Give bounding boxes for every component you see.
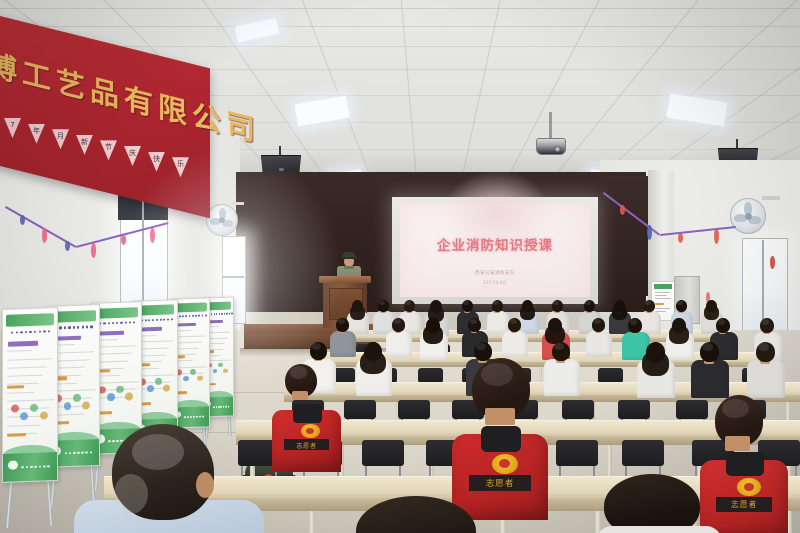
window-frame-small	[222, 276, 244, 278]
meeting-room-photo: 博工艺品有限公司 7年月新节庆快乐 企业消防知识授课 西安公安消防支队 2017…	[0, 0, 800, 533]
poster-board-seal	[8, 460, 17, 469]
poster-title-tick	[145, 319, 147, 321]
poster-title-tick	[29, 330, 31, 333]
projector-lens	[554, 146, 561, 152]
poster-illustration	[40, 412, 48, 420]
poster-title-tick	[108, 322, 110, 324]
projector-icon	[536, 138, 566, 155]
person-torso	[502, 331, 528, 358]
poster-footer-tick	[47, 466, 50, 468]
poster-illustration	[147, 385, 154, 392]
poster-illustration	[197, 375, 203, 381]
person-torso	[691, 360, 729, 398]
poster-text-line	[7, 391, 34, 393]
volunteer-vest-logo-center	[306, 428, 314, 434]
volunteer-neck	[292, 391, 308, 401]
poster-title-tick	[202, 315, 204, 317]
podium-top	[319, 276, 371, 283]
notice-board-header	[654, 284, 672, 289]
poster-illustration	[73, 394, 81, 402]
banner-flag-char: 月	[55, 132, 66, 141]
person-hair-highlight	[594, 319, 601, 324]
bunting-right-drop	[620, 205, 625, 215]
poster-title-tick	[163, 318, 165, 320]
poster-illustration	[82, 401, 90, 409]
poster-title-tick	[77, 326, 79, 329]
person-hair-highlight	[702, 343, 712, 351]
chair	[676, 400, 708, 419]
person-torso	[487, 311, 509, 334]
poster-text-line	[7, 366, 47, 368]
poster-footer-tick	[193, 416, 195, 418]
volunteer-inner-shirt	[481, 426, 521, 452]
poster-footer-tick	[21, 467, 24, 469]
poster-illustration	[218, 363, 223, 368]
poster-subheading	[96, 330, 124, 335]
banner-flag-char: 7	[7, 121, 18, 130]
poster-text-line	[7, 375, 43, 377]
volunteer-vest-logo-center	[499, 459, 510, 468]
poster-footer-tick	[30, 466, 33, 468]
poster-illustration	[125, 392, 133, 400]
volunteer-vest-strip-text: 志愿者	[716, 499, 773, 510]
poster-text-line	[95, 353, 132, 355]
person-torso	[386, 331, 412, 358]
poster-footer-tick	[202, 416, 204, 418]
foreground-man-ear	[196, 472, 214, 498]
fan-bracket-left	[232, 202, 244, 205]
poster-footer-tick	[187, 416, 189, 418]
poster-footer-tick	[216, 406, 218, 408]
notice-text-line	[655, 295, 667, 296]
poster-illustration	[64, 402, 72, 410]
poster-illustration	[11, 404, 19, 412]
speaker-mount	[279, 146, 281, 156]
poster-illustration	[183, 376, 189, 382]
notice-text-line	[655, 292, 670, 293]
poster-title-tick	[198, 315, 200, 317]
poster-title-tick	[229, 312, 230, 314]
poster-board-header	[173, 302, 206, 312]
bunting-left-drop	[121, 235, 126, 245]
person-torso	[586, 331, 612, 358]
poster-illustration	[116, 385, 124, 393]
poster-text-line	[174, 342, 202, 344]
ceiling-grid-line	[0, 8, 800, 9]
table-leg	[607, 445, 612, 477]
notice-text-line	[655, 308, 670, 309]
poster-illustration	[30, 403, 38, 411]
poster-title-tick	[20, 331, 22, 334]
person-head-front	[523, 300, 532, 310]
fan-hub-right	[745, 213, 752, 220]
fan-hub-left	[219, 217, 225, 223]
person-hair-highlight	[762, 319, 770, 325]
poster-illustration	[190, 369, 196, 375]
chair	[598, 368, 623, 383]
poster-footer-tick	[225, 406, 227, 408]
poster-title-tick	[226, 312, 227, 314]
speaker-mount	[736, 139, 738, 149]
poster-title-tick	[214, 313, 215, 315]
banner-flag-char: 新	[79, 138, 90, 147]
bunting-left-drop	[42, 228, 47, 243]
poster-title-tick	[34, 330, 36, 333]
poster-illustration	[163, 384, 170, 391]
poster-footer-tick	[223, 406, 225, 408]
volunteer-neck	[725, 436, 750, 450]
poster-illustration	[20, 412, 28, 420]
bunting-left-drop	[65, 241, 70, 251]
poster-title-tick	[86, 325, 88, 328]
person-head-front	[673, 318, 684, 330]
poster-title-tick	[160, 318, 162, 320]
poster-text-line	[95, 381, 139, 384]
poster-footer-tick	[116, 440, 119, 442]
person-hair-highlight	[630, 319, 638, 325]
poster-text-line	[95, 345, 136, 347]
banner-flag-char: 年	[31, 127, 42, 136]
table-leg	[309, 511, 315, 533]
poster-footer-tick	[108, 440, 111, 442]
poster-title-tick	[48, 330, 50, 333]
poster-footer-tick	[90, 452, 93, 454]
volunteer-vest-logo-center	[744, 483, 754, 491]
foreground-man-grey-hair	[114, 474, 148, 514]
poster-footer-tick	[213, 406, 215, 408]
person-head-front	[353, 300, 362, 310]
poster-board-footer	[3, 453, 57, 482]
poster-footer-tick	[220, 406, 222, 408]
presenter-cap-brim	[341, 257, 357, 259]
window-mullion-right	[762, 240, 764, 330]
poster-title-tick	[216, 313, 217, 315]
poster-title-tick	[205, 314, 207, 316]
person-torso	[639, 311, 661, 334]
poster-footer-tick	[39, 466, 42, 468]
poster-illustration	[213, 369, 218, 374]
poster-footer-tick	[43, 466, 46, 468]
person-hair-highlight	[510, 319, 517, 324]
bunting-right-drop	[770, 256, 775, 269]
volunteer-vest-strip: 志愿者	[469, 475, 530, 491]
poster-footer-tick	[199, 416, 201, 418]
chair	[362, 440, 404, 466]
bunting-left-drop	[91, 243, 96, 258]
poster-title-tick	[211, 313, 212, 315]
poster-board-header	[6, 313, 54, 327]
poster-title-tick	[221, 313, 222, 315]
presenter-collar	[344, 266, 354, 269]
volunteer-vest-logo-icon	[301, 424, 320, 438]
poster-subheading-3	[7, 433, 25, 437]
foreground-head-right-shirt	[596, 526, 722, 533]
banner-flag-char: 节	[103, 143, 114, 152]
volunteer-inner-shirt	[726, 452, 763, 476]
chair	[618, 400, 650, 419]
poster-title-tick	[231, 312, 232, 314]
poster-footer-tick	[81, 452, 84, 454]
ceiling-grid-line	[0, 26, 800, 27]
poster-footer-tick	[190, 416, 192, 418]
projection-screen: 企业消防知识授课 西安公安消防支队 2017年4月	[392, 197, 598, 304]
poster-text-line	[7, 350, 31, 352]
poster-title-tick	[129, 321, 131, 323]
person-torso	[544, 359, 580, 395]
poster-board-header	[94, 307, 138, 319]
poster-board	[2, 307, 58, 483]
volunteer-inner-shirt	[293, 404, 322, 423]
banner-flag-char: 快	[151, 155, 162, 164]
slide-subtitle-org: 西安公安消防支队	[400, 270, 590, 276]
person-torso	[330, 331, 356, 358]
poster-title-tick	[68, 326, 70, 329]
poster-text-line	[7, 358, 51, 361]
person-head-front	[427, 318, 438, 330]
poster-text-line	[7, 399, 54, 402]
poster-title-tick	[133, 321, 135, 323]
poster-title-tick	[25, 331, 27, 334]
speaker-badge	[279, 168, 284, 171]
poster-subheading-2	[7, 385, 23, 389]
projection-screen-surface: 企业消防知识授课 西安公安消防支队 2017年4月	[400, 204, 590, 297]
fan-cage-right	[730, 198, 766, 234]
poster-title-tick	[90, 325, 92, 328]
person-hair-highlight	[338, 319, 345, 324]
poster-footer-tick	[73, 452, 76, 454]
projector-mount	[549, 112, 552, 140]
poster-subheading	[8, 341, 38, 347]
poster-title-tick	[125, 321, 127, 323]
poster-title-tick	[152, 319, 154, 321]
chair	[556, 440, 598, 466]
bunting-right-drop	[647, 225, 652, 240]
poster-title-tick	[185, 315, 187, 317]
poster-illustration	[155, 378, 162, 385]
poster-title-tick	[59, 326, 61, 329]
chair	[398, 400, 430, 419]
chair	[622, 440, 664, 466]
foreground-man-hair-highlight	[132, 434, 184, 470]
person-head-front	[366, 342, 381, 358]
poster-title-tick	[171, 318, 173, 320]
person-torso	[747, 360, 785, 398]
poster-title-tick	[43, 330, 45, 333]
volunteer-vest-strip: 志愿者	[284, 439, 328, 451]
bunting-left-drop	[20, 215, 25, 225]
person-hair-highlight	[718, 319, 726, 325]
poster-title-tick	[116, 322, 118, 324]
banner-flag-char: 乐	[175, 160, 186, 169]
person-hair-highlight	[758, 343, 768, 351]
volunteer-vest-strip-text: 志愿者	[469, 477, 530, 489]
volunteer-vest-strip: 志愿者	[716, 497, 773, 512]
volunteer-hair-highlight	[481, 363, 513, 386]
poster-title-tick	[192, 315, 194, 317]
poster-title-tick	[224, 313, 225, 315]
person-hair-highlight	[394, 319, 401, 324]
poster-text-line	[7, 424, 41, 426]
poster-footer-tick	[34, 466, 37, 468]
poster-footer-tick	[77, 452, 80, 454]
person-head-front	[648, 342, 664, 358]
slide-title: 企业消防知识授课	[400, 234, 590, 254]
poster-title-tick	[189, 315, 191, 317]
poster-title-tick	[112, 322, 114, 324]
slide-subtitle-date: 2017年4月	[400, 280, 590, 286]
notice-text-line	[655, 298, 671, 299]
banner-flag-char: 庆	[127, 149, 138, 158]
poster-footer-tick	[69, 452, 72, 454]
poster-title-tick	[219, 313, 220, 315]
poster-text-line	[174, 335, 205, 337]
volunteer-vest-logo-icon	[492, 454, 518, 474]
person-head-front	[549, 318, 560, 330]
poster-title-tick	[64, 326, 66, 329]
chair	[418, 368, 443, 383]
poster-title-tick	[120, 322, 122, 324]
poster-title-tick	[82, 326, 84, 329]
poster-title-tick	[156, 318, 158, 320]
person-head-front	[431, 300, 441, 311]
poster-title-tick	[39, 330, 41, 333]
poster-footer-tick	[26, 466, 29, 468]
poster-title-tick	[182, 315, 184, 317]
poster-illustration	[107, 393, 115, 401]
volunteer-vest-strip-text: 志愿者	[284, 441, 328, 450]
poster-footer-tick	[85, 452, 88, 454]
volunteer-hair-highlight	[722, 399, 748, 418]
notice-text-line	[655, 303, 664, 305]
poster-footer-tick	[65, 453, 68, 455]
poster-footer-tick	[218, 406, 220, 408]
poster-title-tick	[195, 315, 197, 317]
poster-title-tick	[148, 319, 150, 321]
poster-footer-tick	[228, 406, 230, 408]
person-head-front	[707, 300, 716, 310]
poster-text-line	[137, 374, 175, 376]
fan-bracket-right	[762, 196, 780, 200]
poster-text-line	[174, 366, 207, 368]
volunteer-neck	[485, 408, 515, 425]
poster-title-tick	[16, 331, 18, 334]
person-head-front	[615, 300, 624, 310]
poster-title-tick	[103, 322, 105, 324]
poster-footer-tick	[112, 440, 115, 442]
volunteer-hair-highlight	[290, 366, 307, 379]
poster-title-tick	[73, 326, 75, 329]
poster-illustration	[223, 368, 228, 373]
chair	[562, 400, 594, 419]
poster-footer-tick	[196, 416, 198, 418]
poster-title-tick	[167, 318, 169, 320]
person-hair-highlight	[470, 319, 477, 324]
chair	[344, 400, 376, 419]
foreground-head-right-hair	[604, 474, 700, 533]
poster-title-tick	[179, 315, 181, 317]
poster-title-tick	[11, 331, 13, 334]
poster-footer-tick	[184, 416, 186, 418]
fan-cage-left	[206, 204, 238, 236]
